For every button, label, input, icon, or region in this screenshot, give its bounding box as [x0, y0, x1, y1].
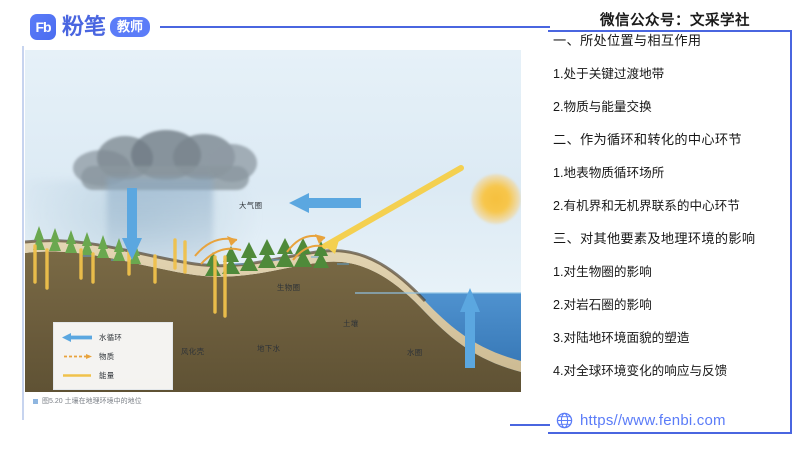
legend-label: 物质	[99, 351, 114, 362]
legend-row: 能量	[62, 370, 114, 381]
brand-badge: 教师	[110, 17, 150, 37]
slide-root: Fb 粉笔 教师 微信公众号：文采学社 一、所处位置与相互作用 1.处于关键过渡…	[0, 0, 800, 450]
outline-item: 2.有机界和无机界联系的中心环节	[553, 199, 797, 213]
legend-row: 物质	[62, 351, 114, 362]
precipitation-arrow-down	[121, 188, 143, 260]
label-hydrosphere: 水圈	[407, 347, 423, 358]
website-url[interactable]: https//www.fenbi.com	[580, 412, 726, 429]
evaporation-arrow-up	[459, 288, 481, 368]
fenbi-logo-icon: Fb	[30, 14, 56, 40]
label-groundwater: 地下水	[257, 343, 280, 354]
outline-item: 1.处于关键过渡地带	[553, 67, 797, 81]
label-biosphere: 生物圈	[277, 282, 300, 293]
outline-item: 1.对生物圈的影响	[553, 265, 797, 279]
footer-divider	[510, 424, 550, 426]
figure-image: 大气圈 生物圈 土壤 风化壳 地下水 水圈 岩石圈 水循环 物质	[25, 50, 521, 392]
brand-name: 粉笔	[62, 14, 106, 40]
outline-item: 1.地表物质循环场所	[553, 166, 797, 180]
outline-list: 一、所处位置与相互作用 1.处于关键过渡地带 2.物质与能量交换 二、作为循环和…	[553, 34, 797, 397]
legend-label: 水循环	[99, 332, 122, 343]
caption-text: 图5.20 土壤在地理环境中的地位	[42, 396, 142, 406]
legend-label: 能量	[99, 370, 114, 381]
label-soil: 土壤	[343, 318, 359, 329]
outline-item: 二、作为循环和转化的中心环节	[553, 133, 797, 147]
caption-marker-icon	[33, 399, 38, 404]
outline-item: 2.对岩石圈的影响	[553, 298, 797, 312]
label-weathering-crust: 风化壳	[181, 346, 204, 357]
legend-arrow-icon	[62, 333, 92, 342]
legend-row: 水循环	[62, 332, 122, 343]
outline-item: 3.对陆地环境面貌的塑造	[553, 331, 797, 345]
figure-legend: 水循环 物质 能量	[53, 322, 173, 390]
legend-dashed-arrow-icon	[62, 352, 92, 361]
outline-item: 一、所处位置与相互作用	[553, 34, 797, 48]
globe-icon	[556, 412, 573, 429]
legend-line-icon	[62, 371, 92, 380]
water-cycle-arrow-left	[289, 192, 361, 214]
wechat-account-title: 微信公众号：文采学社	[560, 9, 790, 30]
figure-caption: 图5.20 土壤在地理环境中的地位	[33, 396, 142, 406]
header-divider	[160, 26, 550, 28]
label-atmosphere: 大气圈	[239, 200, 262, 211]
footer-url-group[interactable]: https//www.fenbi.com	[556, 412, 726, 429]
brand-logo: Fb 粉笔 教师	[30, 12, 150, 42]
outline-item: 4.对全球环境变化的响应与反馈	[553, 364, 797, 378]
outline-item: 2.物质与能量交换	[553, 100, 797, 114]
outline-item: 三、对其他要素及地理环境的影响	[553, 232, 797, 246]
